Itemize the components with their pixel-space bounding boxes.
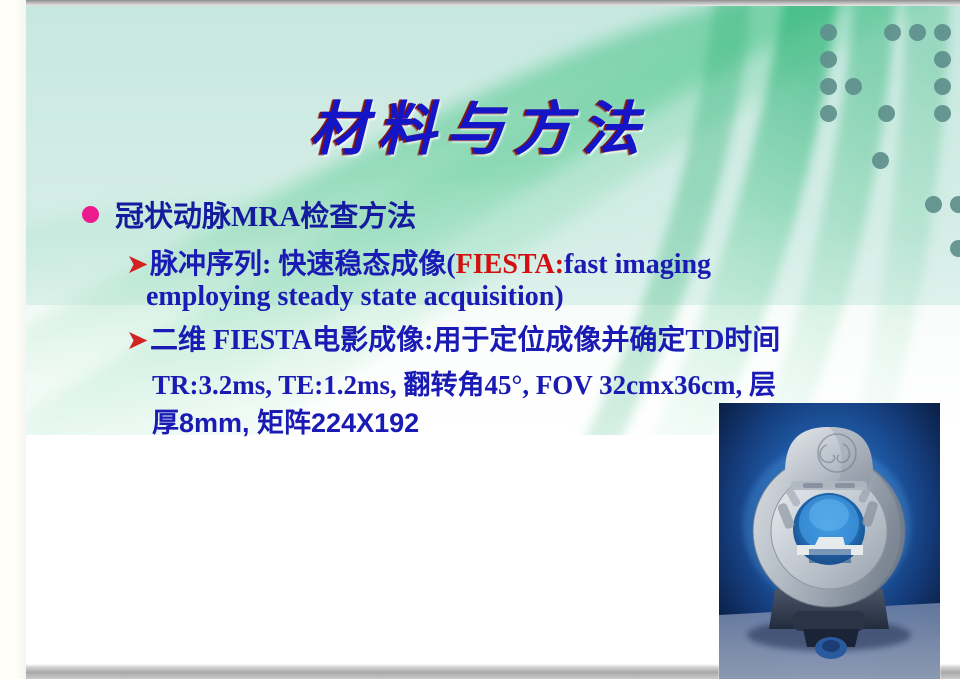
arrow-bullet-icon: ➤ — [126, 327, 146, 354]
scan-parameters-line-2: 厚8mm, 矩阵224X192 — [152, 401, 419, 440]
bullet-2-continuation: employing steady state acquisition) — [146, 281, 564, 313]
bullet-item-3: ➤ 二维 FIESTA电影成像:用于定位成像并确定TD时间 — [126, 318, 780, 358]
bullet-3-label: 二维 FIESTA电影成像:用于定位成像并确定TD时间 — [150, 318, 780, 358]
bullet-item-1: 冠状动脉MRA检查方法 — [82, 193, 416, 235]
presentation-slide: 材料与方法 冠状动脉MRA检查方法 ➤ 脉冲序列: 快速稳态成像( FIESTA… — [0, 0, 960, 679]
mri-scanner-photo — [719, 403, 940, 679]
mri-scanner-illustration — [719, 403, 940, 679]
scan-parameters-line-1: TR:3.2ms, TE:1.2ms, 翻转角45°, FOV 32cmx36c… — [152, 363, 776, 402]
arrow-bullet-icon: ➤ — [126, 251, 146, 278]
disc-bullet-icon — [82, 206, 99, 223]
bullet-2-text-before: 脉冲序列: 快速稳态成像( — [150, 242, 456, 282]
bullet-item-2: ➤ 脉冲序列: 快速稳态成像( FIESTA: fast imaging — [126, 242, 711, 282]
bullet-2-highlight: FIESTA: — [456, 249, 564, 281]
bullet-1-label: 冠状动脉MRA检查方法 — [115, 193, 416, 235]
bullet-2-text-after: fast imaging — [564, 249, 711, 281]
